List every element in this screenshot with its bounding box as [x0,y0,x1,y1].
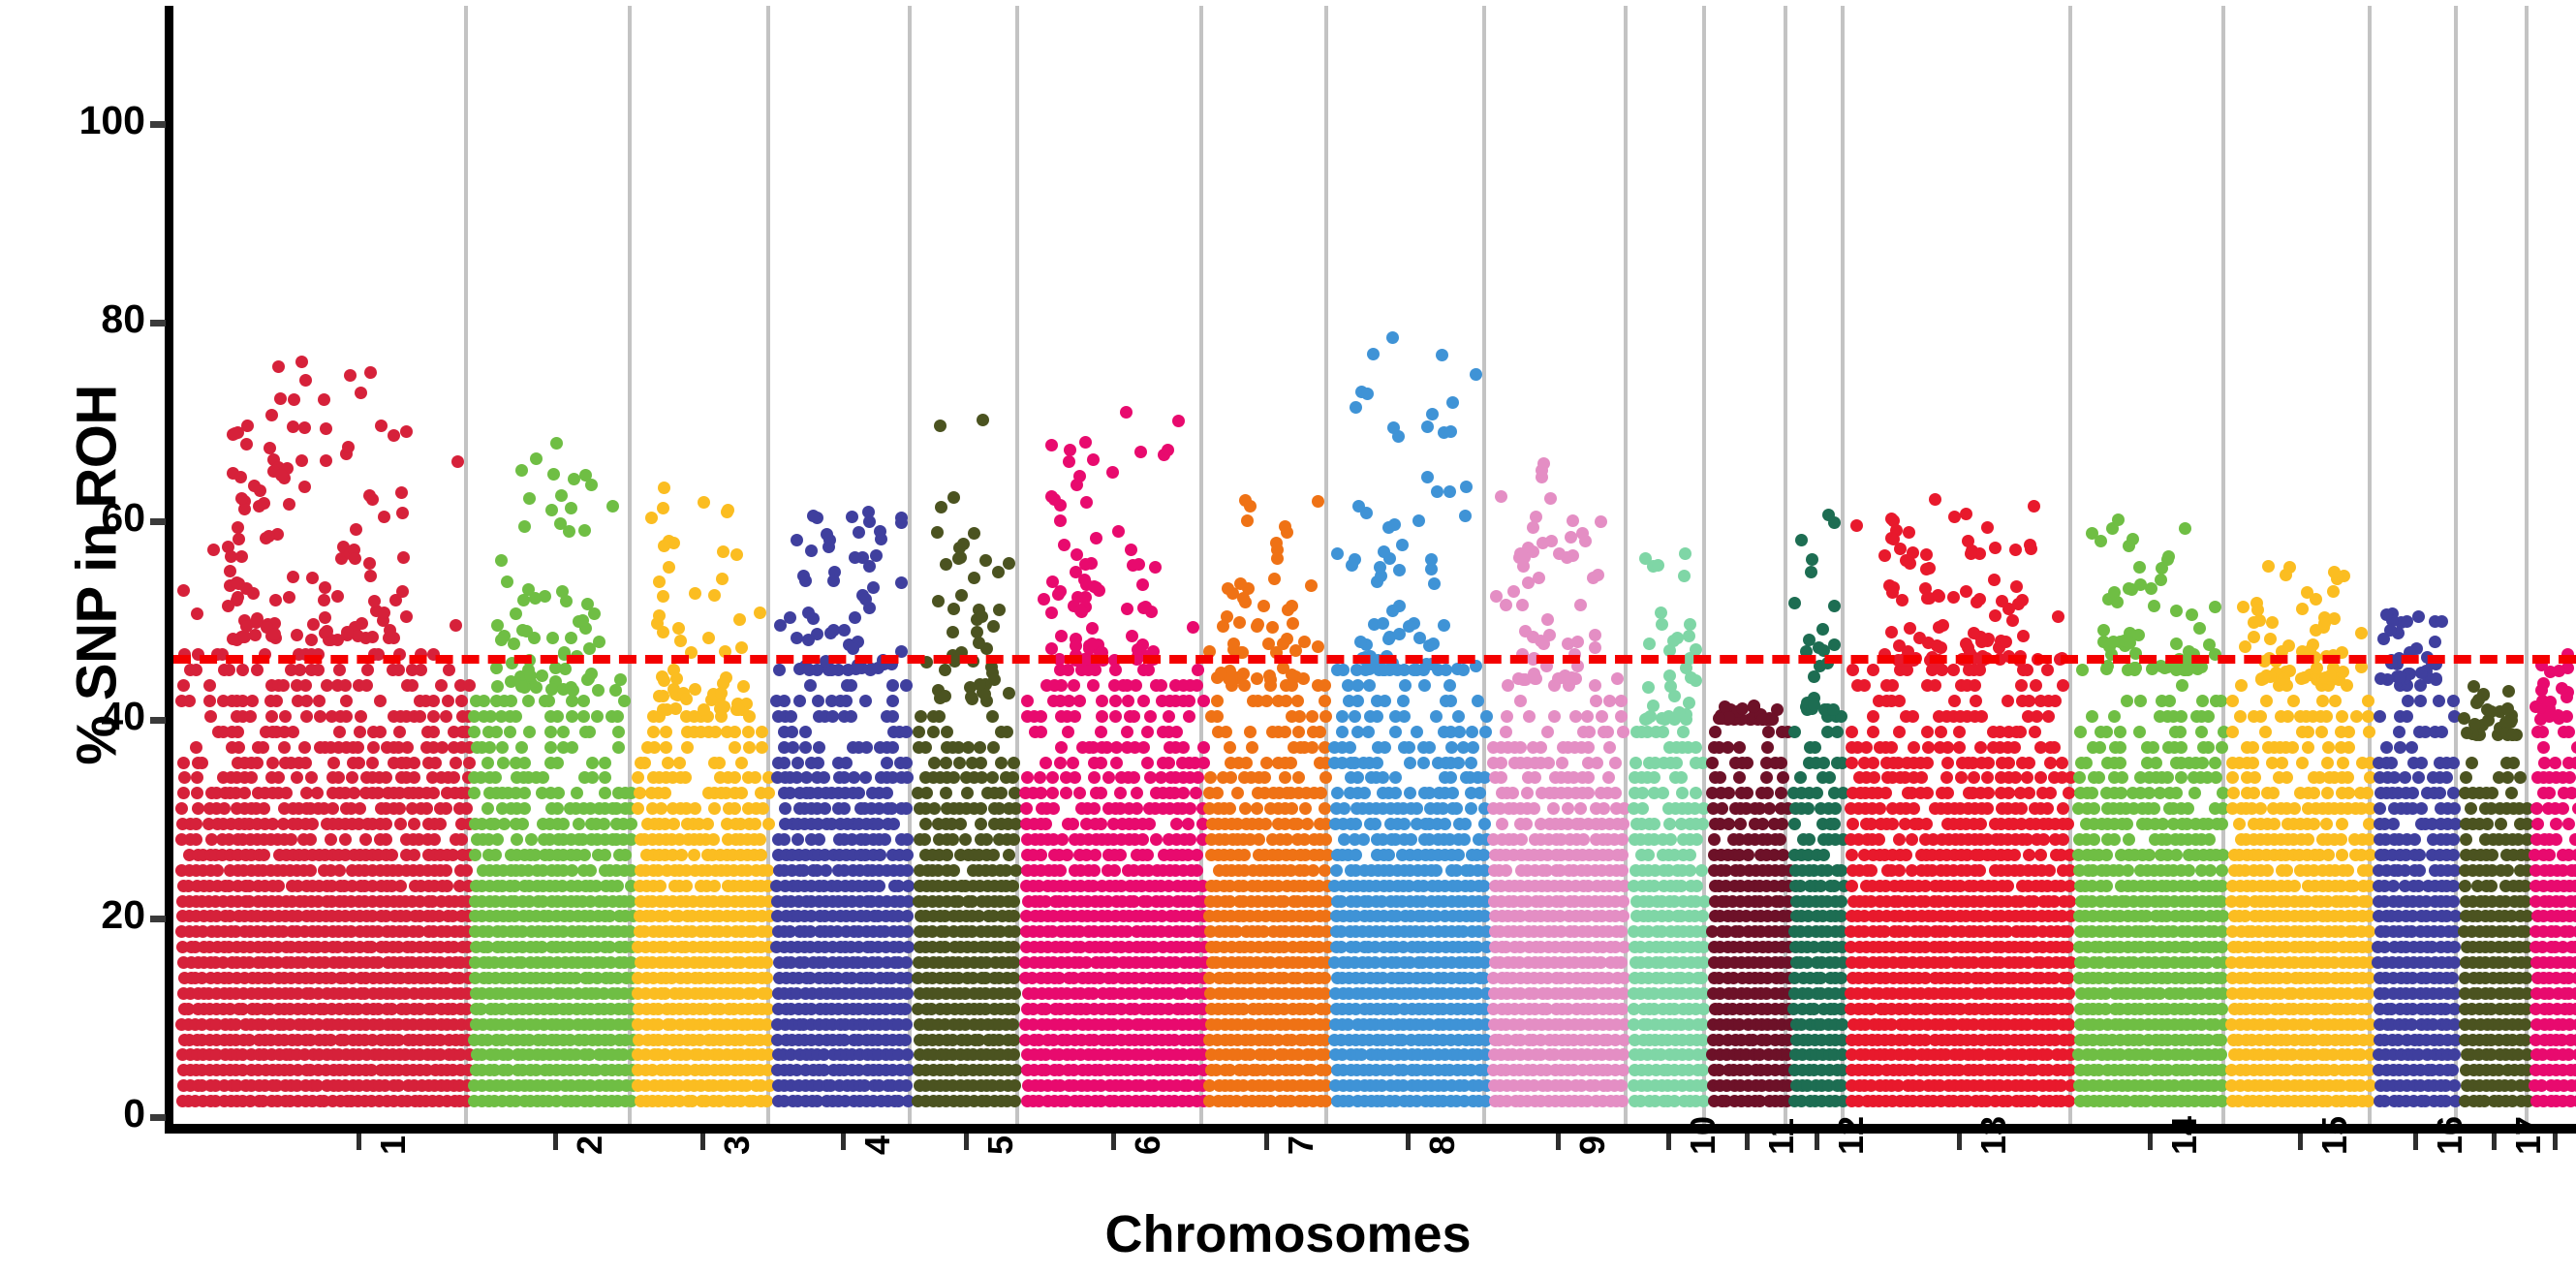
data-point [1128,710,1140,723]
data-point [269,594,282,606]
data-point [353,757,365,769]
data-point [552,787,565,799]
data-point [1363,679,1376,692]
data-point [778,757,791,769]
data-point [246,695,259,707]
data-point [1040,757,1052,769]
data-point [1241,514,1254,527]
data-point [1263,669,1276,682]
data-point [1237,668,1250,680]
data-point [838,624,851,637]
data-point [1379,695,1391,707]
data-point [1351,679,1364,692]
data-point [598,818,610,830]
data-point [1330,864,1343,877]
data-point [1089,849,1102,861]
data-point [583,726,596,738]
data-point [968,527,980,540]
data-point [363,557,376,570]
data-point [954,818,967,830]
data-point [436,741,449,754]
data-point [1088,802,1101,815]
data-point [375,420,388,432]
data-point [1197,695,1210,707]
data-point [1266,621,1279,634]
data-point [1183,710,1195,723]
data-point [356,617,368,630]
data-point [443,664,455,676]
data-point [384,624,396,637]
data-point [1319,972,1331,984]
data-point [947,626,959,638]
data-point [1412,514,1425,527]
data-point [645,512,658,524]
data-point [947,864,960,877]
data-point [971,626,983,638]
data-point [395,486,408,499]
data-point [451,455,464,468]
y-tick-mark [150,518,166,525]
data-point [207,544,220,556]
data-point [901,987,914,1000]
data-point [784,611,796,624]
data-point [295,454,308,467]
data-point [235,550,248,563]
data-point [899,1034,912,1046]
data-point [1306,741,1319,754]
data-point [688,849,700,861]
data-point [266,757,279,769]
data-point [241,420,254,432]
data-point [754,833,766,846]
data-point [1046,787,1059,799]
data-point [1238,849,1251,861]
data-point [1397,695,1410,707]
data-point [1121,603,1133,615]
data-point [374,726,387,738]
data-point [1479,726,1492,738]
data-point [1009,1064,1022,1076]
data-point [886,741,899,754]
data-point [1141,849,1154,861]
data-point [913,726,925,738]
data-point [327,757,340,769]
data-point [1371,757,1383,769]
data-point [762,787,775,799]
data-point [264,442,276,454]
data-point [980,833,993,846]
data-point [975,757,987,769]
data-point [612,726,625,738]
data-point [1369,818,1381,830]
data-point [251,664,264,676]
data-point [742,726,755,738]
data-point [468,787,481,799]
data-point [1054,514,1067,527]
data-point [659,787,671,799]
data-point [859,695,872,707]
data-point [1312,495,1324,508]
data-point [546,632,559,644]
data-point [300,710,313,723]
data-point [863,515,876,528]
data-point [392,664,405,676]
data-point [1054,757,1067,769]
data-point [760,956,773,969]
data-point [1357,833,1370,846]
data-point [543,695,555,707]
data-point [1319,771,1332,784]
data-point [229,427,241,440]
data-point [463,757,476,769]
data-point [874,525,886,538]
data-point [1260,695,1273,707]
data-point [1108,864,1121,877]
data-point [1398,818,1411,830]
data-point [516,818,529,830]
data-point [1315,787,1327,799]
data-point [786,726,798,738]
data-point [791,757,804,769]
data-point [1008,757,1020,769]
data-point [333,864,346,877]
data-point [393,726,406,738]
data-point [846,511,858,523]
data-point [584,864,597,877]
data-point [1121,726,1133,738]
data-point [1444,425,1457,438]
data-point [177,757,190,769]
data-point [918,833,931,846]
data-point [550,437,563,450]
data-point [579,469,592,482]
data-point [1095,726,1107,738]
data-point [1109,695,1122,707]
data-point [518,520,531,533]
data-point [319,581,331,594]
data-point [567,684,579,697]
data-point [388,429,400,442]
data-point [995,757,1008,769]
data-point [320,454,332,467]
data-point [393,802,406,815]
data-point [565,502,577,514]
data-point [1286,802,1298,815]
data-point [304,833,317,846]
data-point [287,571,299,583]
data-point [859,771,872,784]
data-point [468,726,481,738]
data-point [707,833,720,846]
data-point [1096,710,1108,723]
data-point [1073,787,1086,799]
data-point [1009,1095,1021,1107]
data-point [773,664,786,676]
data-point [632,802,644,815]
data-point [408,849,420,861]
data-point [1120,406,1133,419]
data-point [520,625,533,637]
data-point [995,787,1008,799]
data-point [1155,679,1167,692]
data-point [708,589,721,602]
data-point [901,864,914,877]
data-point [660,726,672,738]
data-point [408,757,420,769]
data-point [651,617,664,630]
data-point [658,482,670,494]
data-point [374,695,387,707]
y-tick-mark [150,1114,166,1121]
data-point [675,849,688,861]
data-point [1056,833,1069,846]
data-point [1197,741,1210,754]
data-point [272,360,285,373]
data-point [979,554,992,567]
data-point [366,631,379,643]
data-point [881,787,893,799]
data-point [1009,1079,1021,1092]
data-point [1182,818,1195,830]
data-point [440,864,452,877]
data-point [1003,849,1015,861]
data-point [1045,606,1058,619]
data-point [1079,436,1092,449]
data-point [976,610,988,623]
data-point [1058,539,1071,551]
y-tick-mark [150,916,166,922]
data-point [244,710,257,723]
data-point [408,818,420,830]
data-point [940,558,952,571]
data-point [178,771,191,784]
data-point [563,525,575,538]
data-point [625,818,637,830]
data-point [1453,726,1466,738]
data-point [318,393,330,406]
data-point [988,673,1001,686]
data-point [481,757,494,769]
data-point [560,595,573,607]
data-point [662,757,674,769]
data-point [1314,726,1326,738]
data-point [1142,664,1155,676]
data-point [559,663,572,675]
data-point [192,802,204,815]
data-point [265,710,278,723]
data-point [732,703,745,716]
y-axis-line [165,6,173,1130]
data-point [845,679,857,692]
data-point [1279,771,1291,784]
data-point [544,726,557,738]
data-point [1421,420,1434,433]
data-point [1021,771,1034,784]
data-point [586,771,599,784]
data-point [460,802,473,815]
data-point [283,591,295,604]
data-point [272,880,285,892]
data-point [1459,818,1472,830]
data-point [968,572,980,584]
data-point [1440,664,1452,676]
data-point [1299,802,1312,815]
data-point [547,468,560,481]
data-point [599,787,611,799]
data-point [660,741,672,754]
data-point [1287,617,1299,630]
data-point [455,695,468,707]
data-point [1112,525,1125,538]
plot-panel [173,6,2576,1124]
data-point [648,741,661,754]
data-point [1258,771,1271,784]
data-point [427,710,440,723]
data-point [1430,710,1443,723]
data-point [902,941,915,953]
data-point [820,864,832,877]
data-point [887,818,900,830]
data-point [1021,695,1034,707]
data-point [342,441,355,453]
data-point [1060,787,1072,799]
data-point [518,802,531,815]
data-point [491,680,504,693]
data-point [523,726,536,738]
data-point [1438,619,1450,632]
data-point [258,802,270,815]
data-point [1139,601,1152,613]
data-point [899,1003,912,1015]
data-point [190,833,202,846]
data-point [203,679,216,692]
y-tick-mark [150,121,166,128]
data-point [900,1079,913,1092]
data-point [1452,757,1465,769]
data-point [1080,496,1093,509]
data-point [654,880,667,892]
data-point [460,864,473,877]
y-tick-mark [150,717,166,724]
data-point [680,693,693,705]
data-point [813,741,825,754]
data-point [1362,726,1375,738]
data-point [1459,510,1472,522]
data-point [1224,741,1236,754]
data-point [1020,802,1033,815]
data-point [940,787,952,799]
data-point [490,726,503,738]
data-point [240,438,253,451]
data-point [1428,577,1441,590]
data-point [545,504,558,516]
data-point [1374,561,1386,574]
data-point [235,492,248,505]
data-point [1130,679,1142,692]
data-point [799,726,812,738]
data-point [578,849,591,861]
data-point [510,710,522,723]
data-point [1150,833,1163,846]
data-point [277,679,290,692]
data-point [1220,726,1232,738]
data-point [305,634,318,646]
data-point [838,802,851,815]
data-point [940,757,952,769]
data-point [1260,757,1273,769]
data-point [867,581,880,594]
data-point [429,757,442,769]
data-point [1382,849,1395,861]
data-point [698,496,710,509]
data-point [1233,616,1246,629]
data-point [813,833,825,846]
data-point [1163,757,1175,769]
data-point [1215,667,1227,679]
data-point [463,679,476,692]
data-point [498,818,511,830]
data-point [339,679,352,692]
data-point [827,575,840,587]
data-point [279,710,292,723]
data-point [681,741,694,754]
data-point [287,726,299,738]
data-point [962,741,975,754]
data-point [1136,833,1149,846]
data-point [257,741,269,754]
data-point [1285,757,1297,769]
data-point [955,589,968,602]
data-point [1291,695,1304,707]
data-point [730,548,743,561]
data-point [530,452,543,465]
data-point [663,561,675,574]
data-point [708,802,721,815]
data-point [1378,545,1390,558]
data-point [934,420,947,432]
data-point [1451,663,1464,675]
data-point [536,669,548,682]
data-point [573,818,585,830]
data-point [1244,726,1257,738]
data-point [364,570,377,582]
data-point [525,833,538,846]
data-point [1095,757,1107,769]
data-point [729,771,741,784]
data-point [1239,802,1252,815]
data-point [860,741,873,754]
data-point [879,833,891,846]
data-point [1045,439,1058,451]
data-point [515,464,528,477]
data-point [873,880,885,892]
data-point [901,910,914,922]
data-point [1087,453,1100,466]
data-point [793,695,806,707]
data-point [1346,559,1358,572]
data-point [895,576,908,589]
data-point [566,741,578,754]
data-point [612,741,625,754]
data-point [568,473,580,485]
data-point [305,771,318,784]
data-point [204,710,217,723]
data-point [974,678,986,691]
data-point [1444,771,1457,784]
data-point [1046,771,1059,784]
data-point [715,687,728,700]
data-point [367,741,380,754]
